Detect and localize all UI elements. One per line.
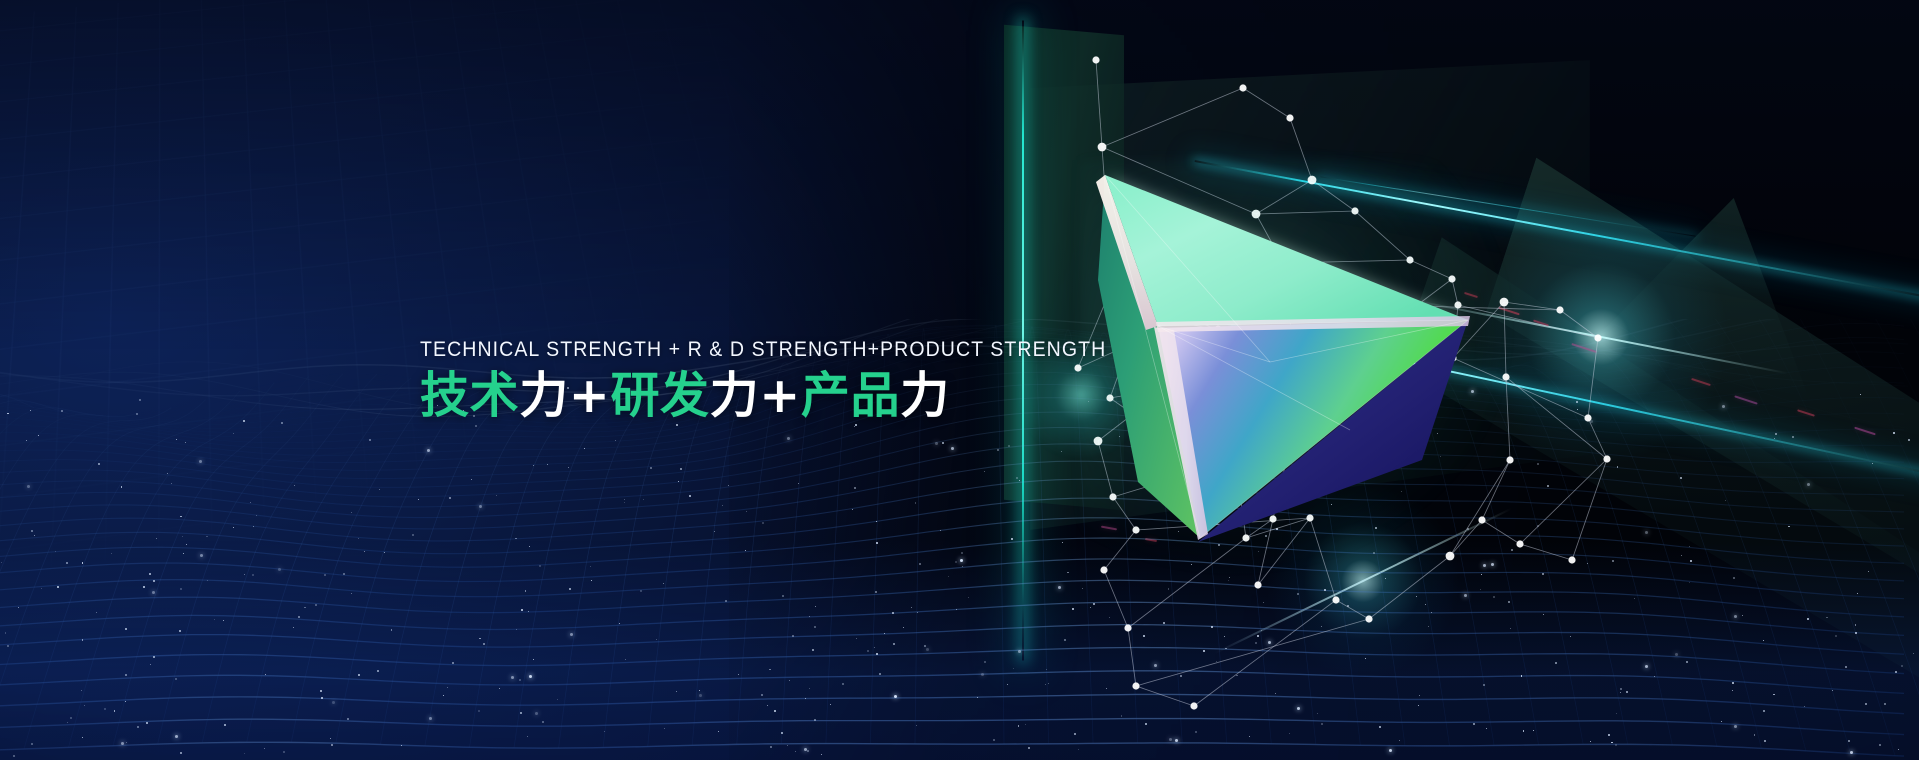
headline-block: TECHNICAL STRENGTH + R & D STRENGTH+PROD… — [420, 338, 1158, 424]
arrow-upper-face — [1105, 175, 1468, 326]
headline-segment-7: 力 — [900, 367, 950, 424]
eyebrow-text: TECHNICAL STRENGTH + R & D STRENGTH+PROD… — [420, 338, 1106, 362]
headline-segment-4: 力 — [710, 367, 760, 424]
page-title: 技术力+研发力+产品力 — [420, 369, 1158, 424]
headline-segment-3: 研发 — [610, 367, 709, 424]
headline-segment-0: 技术 — [420, 367, 519, 424]
headline-segment-6: 产品 — [801, 367, 900, 424]
headline-segment-1: 力 — [519, 367, 569, 424]
headline-segment-2: + — [569, 367, 611, 424]
headline-segment-5: + — [759, 367, 801, 424]
hero-banner: TECHNICAL STRENGTH + R & D STRENGTH+PROD… — [0, 0, 1919, 760]
